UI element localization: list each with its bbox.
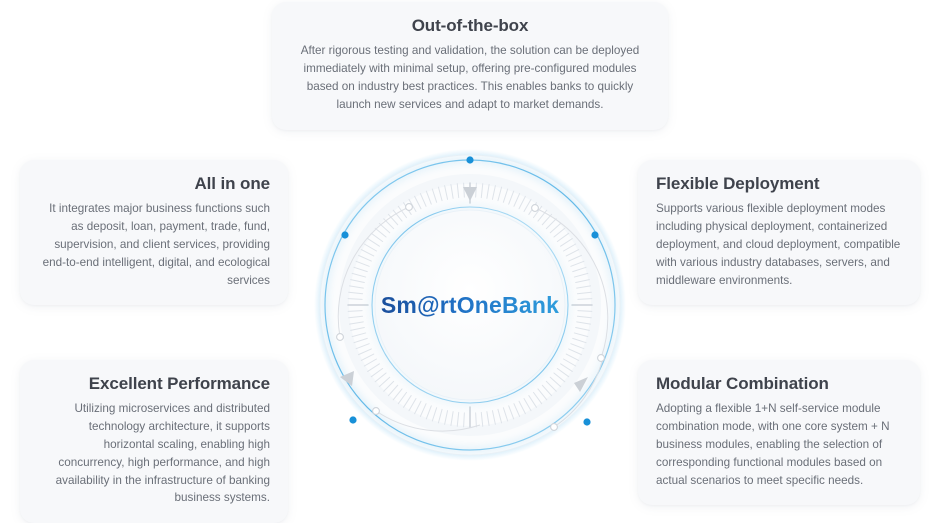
connector-node-3 <box>337 334 344 341</box>
accent-dot-top <box>466 156 473 163</box>
accent-dot-bottom-left <box>349 416 356 423</box>
feature-card-out-of-the-box[interactable]: Out-of-the-box After rigorous testing an… <box>272 2 668 130</box>
card-body: After rigorous testing and validation, t… <box>290 42 650 113</box>
connector-node-6 <box>551 424 558 431</box>
accent-dot-left <box>341 231 348 238</box>
feature-card-flexible-deployment[interactable]: Flexible Deployment Supports various fle… <box>638 160 920 305</box>
central-emblem: {} <box>300 135 640 475</box>
accent-dot-bottom-right <box>583 418 590 425</box>
card-body: Adopting a flexible 1+N self-service mod… <box>656 400 902 489</box>
connector-node-2 <box>532 205 539 212</box>
emblem-core-disc <box>375 210 565 400</box>
card-body: Utilizing microservices and distributed … <box>38 400 270 507</box>
connector-node-5 <box>373 408 380 415</box>
feature-card-all-in-one[interactable]: All in one It integrates major business … <box>20 160 288 305</box>
card-title: Flexible Deployment <box>656 174 902 194</box>
feature-card-modular-combination[interactable]: Modular Combination Adopting a flexible … <box>638 360 920 505</box>
card-body: Supports various flexible deployment mod… <box>656 200 902 289</box>
card-body: It integrates major business functions s… <box>38 200 270 289</box>
card-title: Modular Combination <box>656 374 902 394</box>
accent-dot-right <box>591 231 598 238</box>
card-title: Excellent Performance <box>38 374 270 394</box>
connector-node-1 <box>406 204 413 211</box>
card-title: All in one <box>38 174 270 194</box>
connector-node-4 <box>598 355 605 362</box>
card-title: Out-of-the-box <box>290 16 650 36</box>
feature-card-excellent-performance[interactable]: Excellent Performance Utilizing microser… <box>20 360 288 523</box>
feature-diagram: {} <box>0 0 941 500</box>
